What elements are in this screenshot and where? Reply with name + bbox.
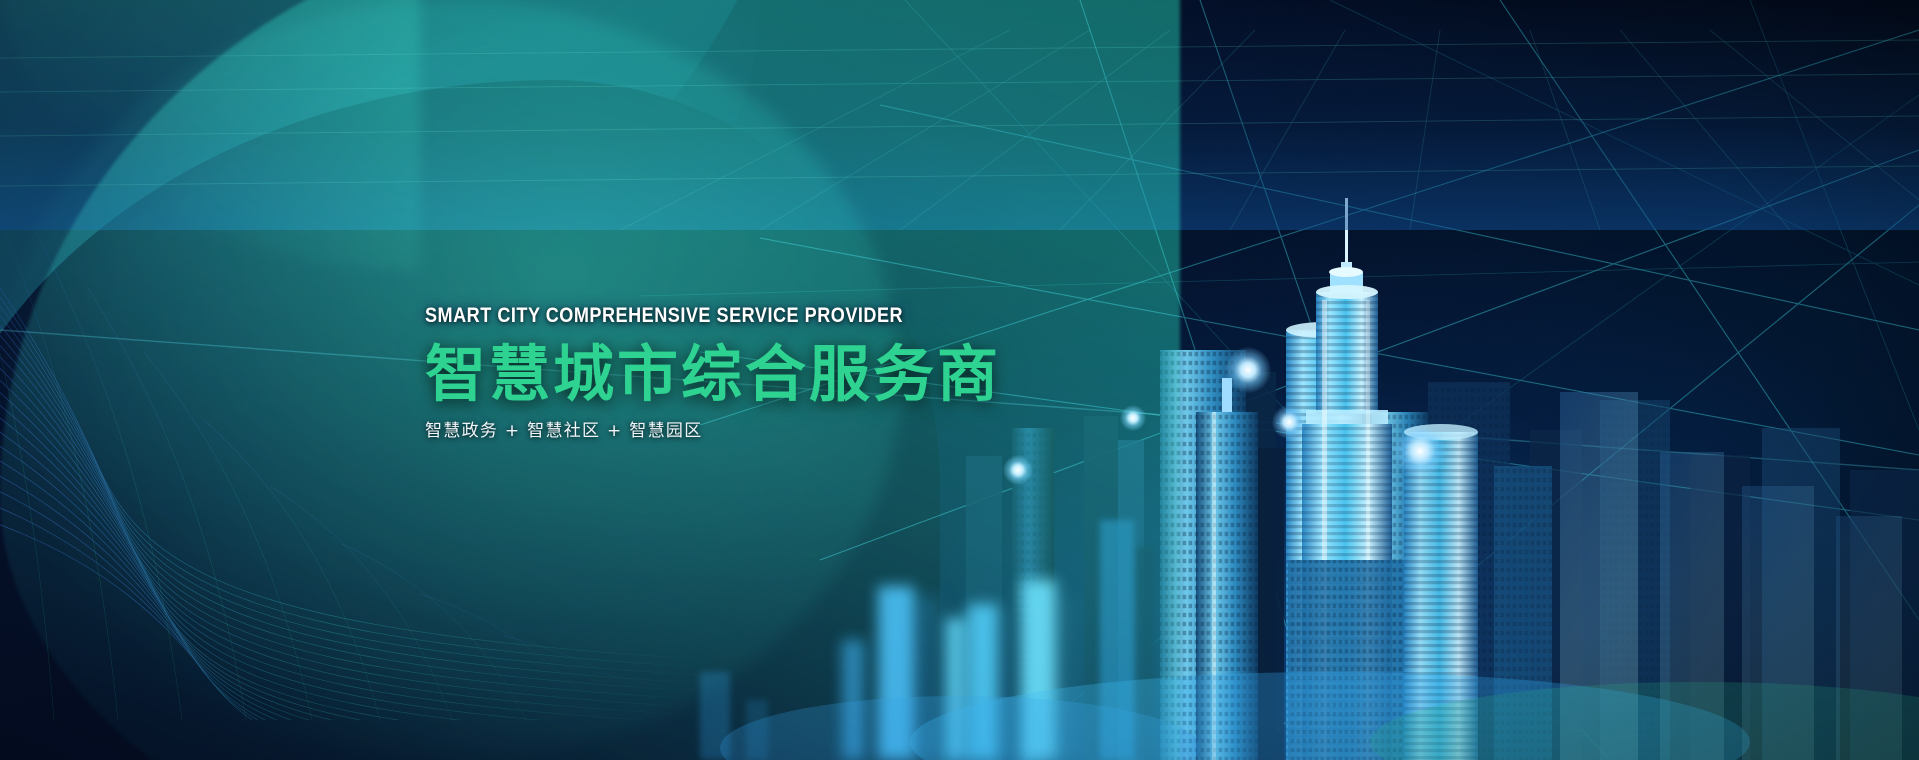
smart-city-hero-banner: SMART CITY COMPREHENSIVE SERVICE PROVIDE… [0,0,1919,760]
light-sparkle [1394,425,1446,477]
subtitle-services: 智慧政务 + 智慧社区 + 智慧园区 [425,423,1185,440]
light-sparkle [1003,455,1033,485]
perspective-grid-floor [0,0,1919,230]
page-title: 智慧城市综合服务商 [425,343,1185,408]
hero-tower [1288,198,1406,760]
hero-copy-block: SMART CITY COMPREHENSIVE SERVICE PROVIDE… [425,305,1185,440]
eyebrow-english-tagline: SMART CITY COMPREHENSIVE SERVICE PROVIDE… [425,305,1079,326]
light-sparkle [1272,405,1306,439]
light-sparkle [1225,347,1271,393]
green-corner-glow [0,0,420,270]
